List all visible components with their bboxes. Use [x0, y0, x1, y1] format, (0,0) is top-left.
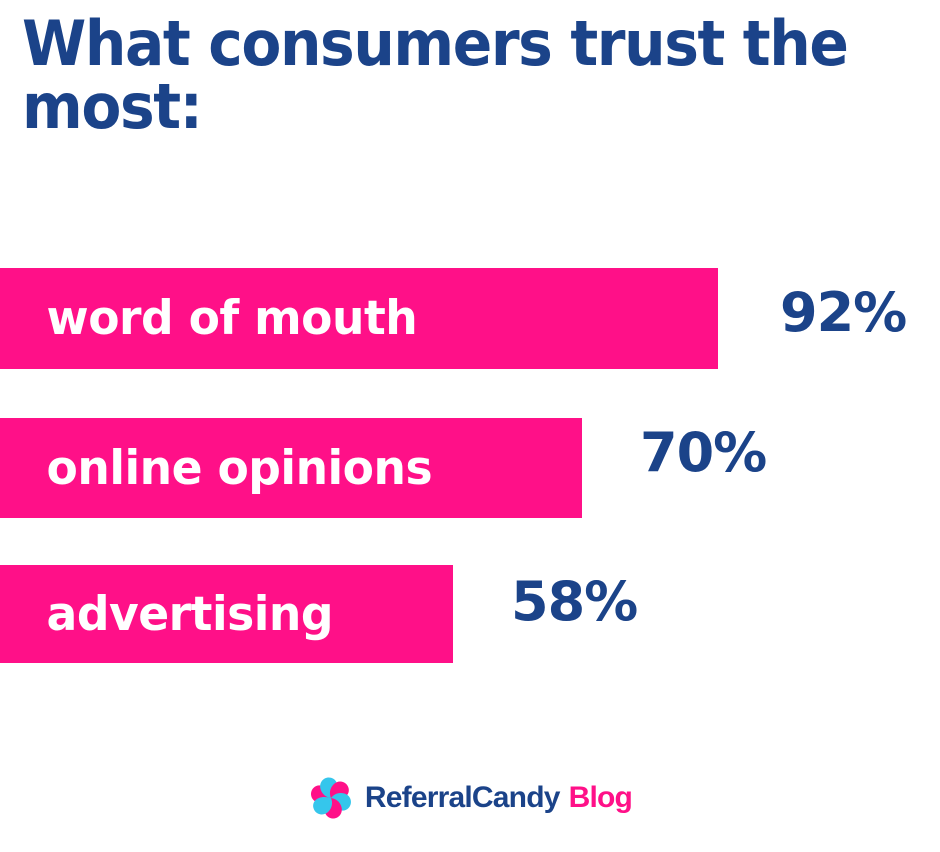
- referralcandy-pinwheel-icon: [308, 775, 354, 821]
- page-title: What consumers trust the most:: [22, 12, 868, 138]
- infographic-canvas: What consumers trust the most: word of m…: [0, 0, 940, 852]
- brand-name: ReferralCandy: [365, 781, 560, 814]
- bar-chart: word of mouth 92% online opinions 70% ad…: [0, 255, 940, 685]
- bar-advertising: advertising: [0, 565, 453, 663]
- bar-label-online-opinions: online opinions: [0, 445, 432, 492]
- bar-label-word-of-mouth: word of mouth: [0, 295, 417, 342]
- bar-value-word-of-mouth: 92%: [780, 286, 906, 340]
- bar-value-advertising: 58%: [511, 575, 637, 629]
- chart-row-advertising: advertising 58%: [0, 565, 940, 663]
- bar-value-online-opinions: 70%: [640, 426, 766, 480]
- bar-online-opinions: online opinions: [0, 418, 582, 518]
- brand-wordmark: ReferralCandyBlog: [365, 783, 632, 813]
- chart-row-word-of-mouth: word of mouth 92%: [0, 268, 940, 369]
- chart-row-online-opinions: online opinions 70%: [0, 418, 940, 518]
- bar-word-of-mouth: word of mouth: [0, 268, 718, 369]
- bar-label-advertising: advertising: [0, 591, 333, 638]
- brand-suffix: Blog: [569, 781, 632, 814]
- title-block: What consumers trust the most:: [22, 12, 922, 138]
- footer-brand-lockup: ReferralCandyBlog: [0, 775, 940, 821]
